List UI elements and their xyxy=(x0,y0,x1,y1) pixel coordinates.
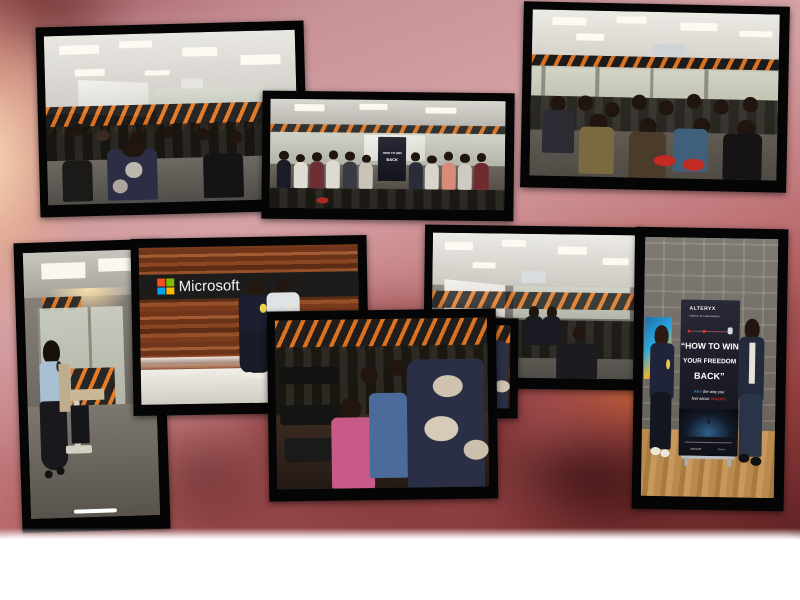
alteryx-subline-rest: the way you xyxy=(702,389,725,394)
banner-footer-alteryx: Alteryx xyxy=(718,448,726,451)
alteryx-subline-analytics: Analytics xyxy=(710,396,726,401)
alteryx-brand-tagline: Platform for Data Analytics xyxy=(689,315,720,319)
alteryx-headline-2: YOUR FREEDOM xyxy=(680,357,739,365)
projector-icon xyxy=(653,43,685,57)
alteryx-subline-2: feel about Analytics xyxy=(680,396,739,402)
alteryx-subline-feel: feel about xyxy=(692,396,711,401)
photo-audience-back[interactable] xyxy=(267,308,499,501)
microsoft-wordmark: Microsoft xyxy=(179,277,240,295)
alteryx-banner: ALTERYX Platform for Data Analytics “HOW… xyxy=(679,300,740,456)
microsoft-logo-icon xyxy=(157,279,175,295)
projector-icon xyxy=(180,78,203,89)
alteryx-brand: ALTERYX xyxy=(689,306,715,312)
collage-stage: HOW TO WIN BACK xyxy=(0,0,800,600)
bottom-white-band xyxy=(0,539,800,600)
banner-footer-microsoft: Microsoft xyxy=(691,447,702,450)
photo-banner-pair[interactable]: ALTERYX Platform for Data Analytics “HOW… xyxy=(632,227,789,512)
alteryx-subline-1: Alter the way you xyxy=(680,388,739,394)
photo-audience-seated[interactable] xyxy=(520,1,790,193)
alteryx-headline-1: “HOW TO WIN xyxy=(681,342,740,353)
photo-group-with-banner[interactable]: HOW TO WIN BACK xyxy=(261,91,514,222)
projector-icon xyxy=(521,271,545,283)
alteryx-headline-3: BACK” xyxy=(680,370,739,381)
